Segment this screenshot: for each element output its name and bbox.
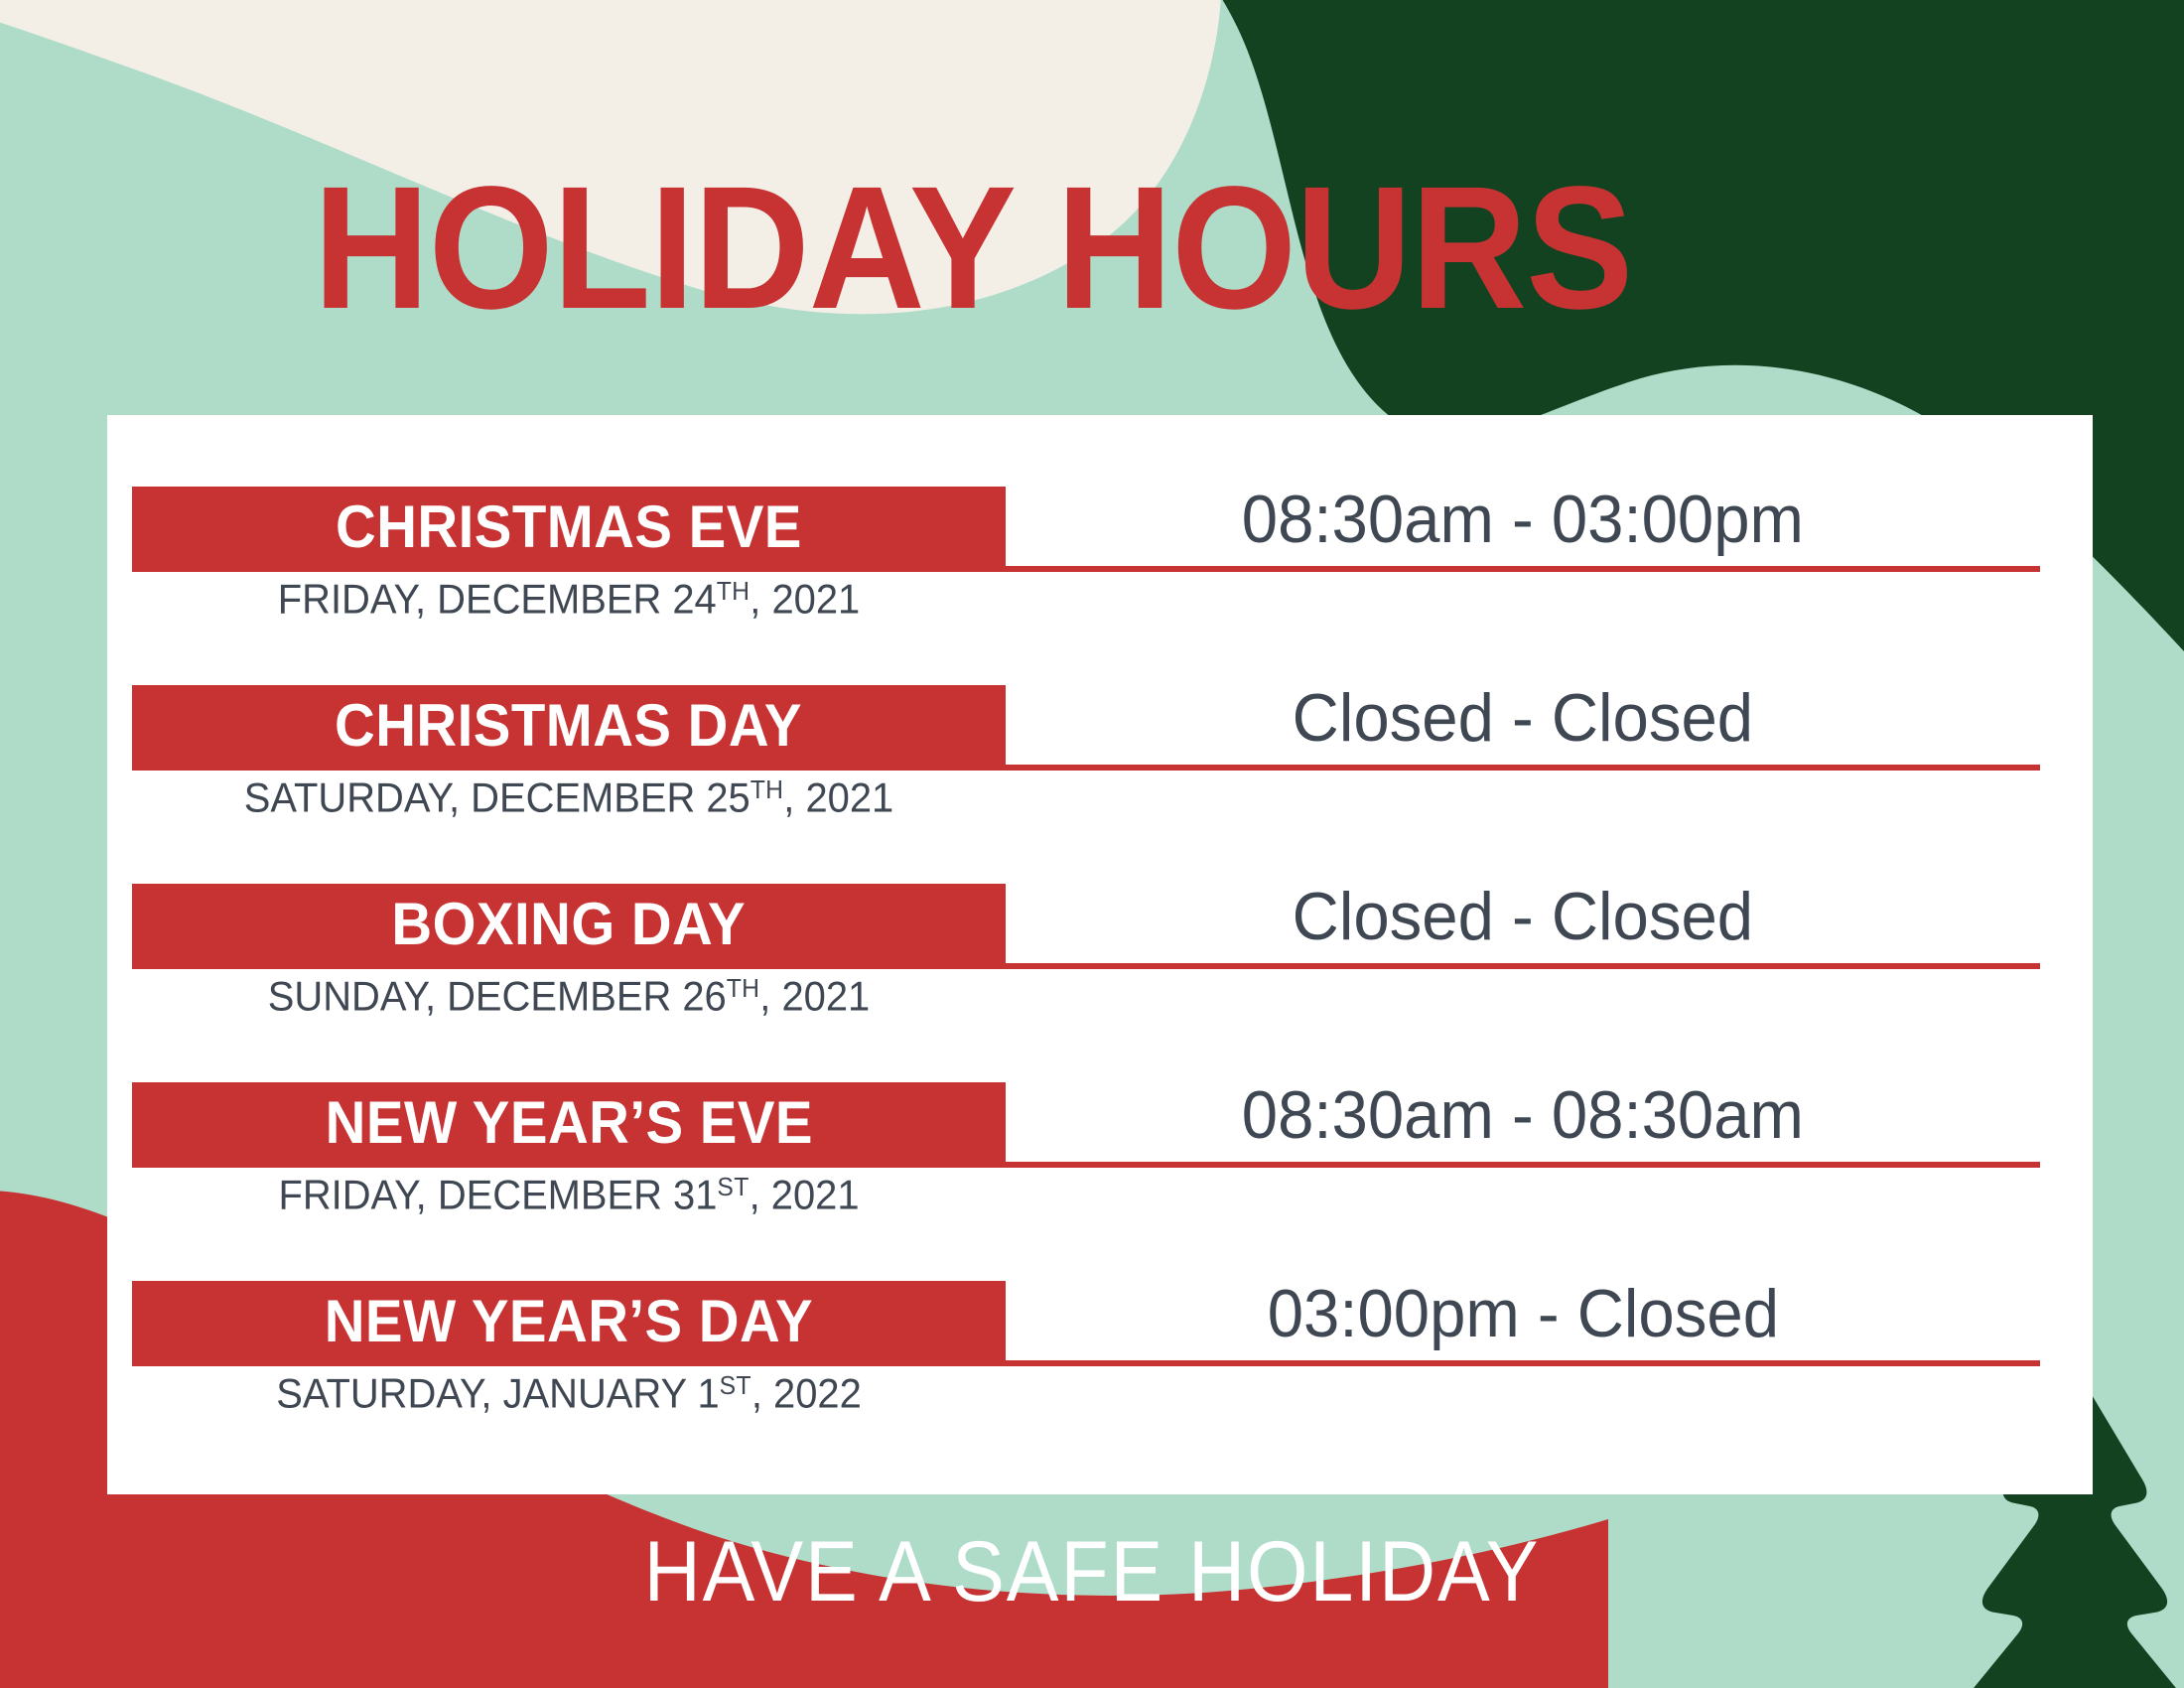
table-row: CHRISTMAS EVE FRIDAY, DECEMBER 24TH, 202… [0, 487, 2184, 685]
hours-cell: Closed - Closed [1006, 876, 2040, 969]
date-prefix: SATURDAY, JANUARY 1 [276, 1370, 719, 1417]
holiday-name-label: NEW YEAR’S DAY [325, 1292, 813, 1351]
hours-cell: 03:00pm - Closed [1006, 1273, 2040, 1366]
table-row: NEW YEAR’S EVE FRIDAY, DECEMBER 31ST, 20… [0, 1082, 2184, 1281]
table-row: BOXING DAY SUNDAY, DECEMBER 26TH, 2021 C… [0, 884, 2184, 1082]
holiday-name-label: BOXING DAY [392, 895, 747, 954]
holiday-name-banner: BOXING DAY [132, 884, 1006, 969]
date-ordinal-suffix: ST [717, 1172, 749, 1201]
holiday-date-label: FRIDAY, DECEMBER 24TH, 2021 [154, 578, 984, 621]
date-prefix: SATURDAY, DECEMBER 25 [244, 774, 751, 821]
holiday-name-banner: CHRISTMAS DAY [132, 685, 1006, 771]
date-ordinal-suffix: ST [720, 1370, 751, 1400]
hours-value: 08:30am - 03:00pm [1242, 486, 1804, 559]
date-ordinal-suffix: TH [717, 576, 751, 606]
holiday-date-label: SATURDAY, JANUARY 1ST, 2022 [154, 1372, 984, 1415]
holiday-name-banner: CHRISTMAS EVE [132, 487, 1006, 572]
date-year: , 2021 [759, 973, 870, 1020]
hours-cell: 08:30am - 08:30am [1006, 1074, 2040, 1168]
table-row: CHRISTMAS DAY SATURDAY, DECEMBER 25TH, 2… [0, 685, 2184, 884]
footer-message: HAVE A SAFE HOLIDAY [87, 1529, 2097, 1615]
hours-cell: Closed - Closed [1006, 677, 2040, 771]
holiday-name-banner: NEW YEAR’S DAY [132, 1281, 1006, 1366]
holiday-date-label: SATURDAY, DECEMBER 25TH, 2021 [154, 776, 984, 819]
date-prefix: SUNDAY, DECEMBER 26 [268, 973, 727, 1020]
holiday-name-label: CHRISTMAS EVE [336, 497, 802, 557]
holiday-date-label: SUNDAY, DECEMBER 26TH, 2021 [154, 975, 984, 1018]
hours-value: Closed - Closed [1293, 684, 1753, 758]
holiday-hours-poster: HOLIDAY HOURS CHRISTMAS EVE FRIDAY, DECE… [0, 0, 2184, 1688]
date-year: , 2021 [783, 774, 893, 821]
date-year: , 2022 [751, 1370, 862, 1417]
holiday-name-banner: NEW YEAR’S EVE [132, 1082, 1006, 1168]
table-row: NEW YEAR’S DAY SATURDAY, JANUARY 1ST, 20… [0, 1281, 2184, 1479]
hours-value: 08:30am - 08:30am [1242, 1081, 1804, 1155]
holiday-name-label: CHRISTMAS DAY [336, 696, 803, 756]
date-year: , 2021 [750, 1172, 860, 1218]
holiday-date-label: FRIDAY, DECEMBER 31ST, 2021 [154, 1174, 984, 1216]
hours-value: Closed - Closed [1293, 883, 1753, 956]
hours-cell: 08:30am - 03:00pm [1006, 479, 2040, 572]
date-ordinal-suffix: TH [727, 973, 760, 1003]
date-prefix: FRIDAY, DECEMBER 24 [278, 576, 717, 623]
date-prefix: FRIDAY, DECEMBER 31 [278, 1172, 717, 1218]
holiday-name-label: NEW YEAR’S EVE [325, 1093, 812, 1153]
date-ordinal-suffix: TH [751, 774, 784, 804]
hours-table: CHRISTMAS EVE FRIDAY, DECEMBER 24TH, 202… [0, 0, 2184, 1688]
hours-value: 03:00pm - Closed [1267, 1280, 1778, 1353]
date-year: , 2021 [750, 576, 860, 623]
